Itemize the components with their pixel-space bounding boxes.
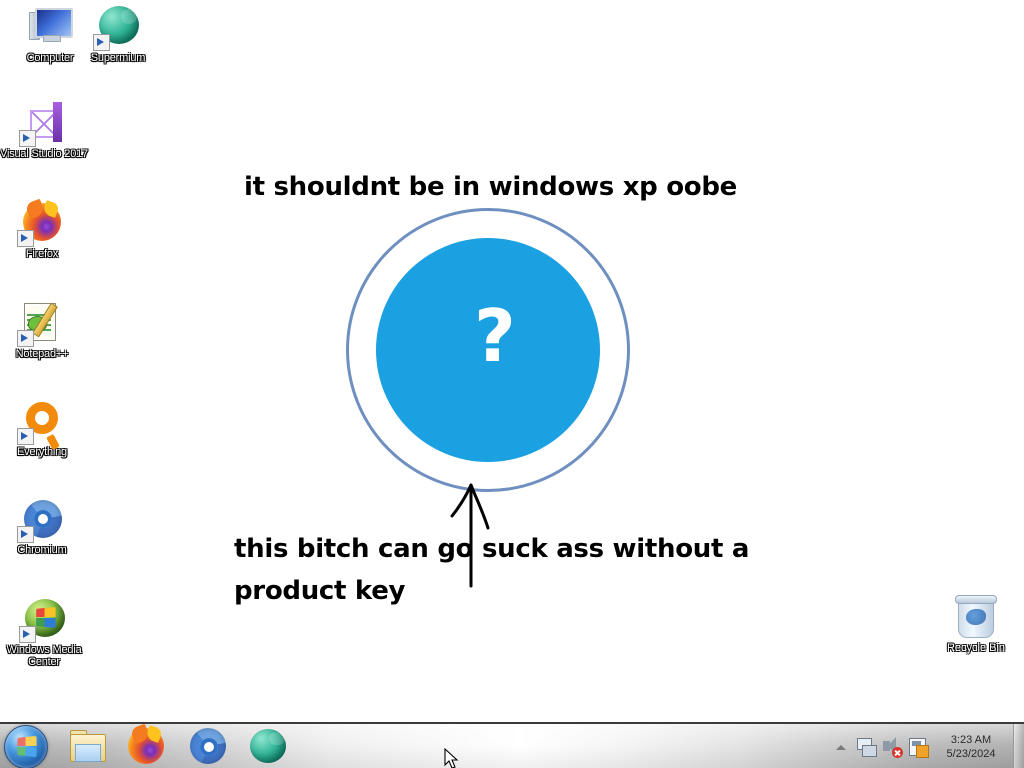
show-desktop-button[interactable] (1013, 724, 1024, 768)
desktop-icon-label: Supermium (72, 52, 164, 64)
desktop-icon-firefox[interactable]: Firefox (0, 200, 88, 260)
shortcut-overlay-icon (19, 626, 36, 643)
chromium-icon (19, 496, 65, 542)
firefox-icon (19, 200, 65, 246)
desktop-icon-recycle-bin[interactable]: Recycle Bin (928, 598, 1024, 654)
annotation-bottom-text: this bitch can go suck ass without a pro… (234, 528, 774, 612)
shortcut-overlay-icon (19, 130, 36, 147)
clock-time: 3:23 AM (937, 733, 1005, 747)
desktop-icon-everything[interactable]: Everything (0, 398, 88, 458)
taskbar-item-chromium[interactable] (190, 728, 228, 766)
oobe-question-circle-graphic: ? (346, 208, 634, 496)
desktop[interactable]: Computer Supermium Visual Studio 2017 Fi… (0, 0, 1024, 768)
desktop-icon-visual-studio-2017[interactable]: Visual Studio 2017 (0, 100, 92, 160)
clock-date: 5/23/2024 (937, 747, 1005, 761)
chromium-icon (190, 728, 226, 764)
desktop-icon-label: Windows Media Center (0, 644, 94, 668)
desktop-icon-label: Recycle Bin (928, 642, 1024, 654)
action-center-flag-icon[interactable] (907, 734, 929, 760)
shortcut-overlay-icon (17, 526, 34, 543)
supermium-orb-icon (250, 729, 286, 763)
taskbar-item-windows-explorer[interactable] (68, 728, 106, 766)
taskbar-item-supermium[interactable] (250, 728, 288, 766)
notepad-plus-plus-icon (19, 300, 65, 346)
everything-icon (19, 398, 65, 444)
desktop-icon-label: Visual Studio 2017 (0, 148, 92, 160)
recycle-bin-icon (958, 598, 994, 638)
computer-monitor-icon (27, 4, 73, 50)
system-tray[interactable]: 3:23 AM 5/23/2024 (833, 724, 1024, 768)
start-button[interactable] (4, 725, 48, 768)
desktop-icon-chromium[interactable]: Chromium (0, 496, 88, 556)
desktop-icon-label: Firefox (0, 248, 88, 260)
firefox-icon (128, 728, 164, 764)
desktop-icon-windows-media-center[interactable]: Windows Media Center (0, 596, 94, 668)
desktop-icon-label: Everything (0, 446, 88, 458)
windows-start-orb-icon (17, 736, 36, 757)
shortcut-overlay-icon (17, 230, 34, 247)
desktop-icon-supermium[interactable]: Supermium (72, 4, 164, 64)
annotation-top-text: it shouldnt be in windows xp oobe (244, 172, 737, 202)
shortcut-overlay-icon (17, 428, 34, 445)
windows-media-center-icon (21, 596, 67, 642)
chevron-up-icon[interactable] (833, 734, 849, 760)
taskbar-clock[interactable]: 3:23 AM 5/23/2024 (931, 733, 1013, 761)
desktop-icon-notepad-plus-plus[interactable]: Notepad++ (0, 300, 88, 360)
shortcut-overlay-icon (17, 330, 34, 347)
mouse-pointer-icon (444, 748, 460, 768)
network-icon[interactable] (855, 734, 877, 760)
supermium-orb-icon (95, 4, 141, 50)
visual-studio-icon (21, 100, 67, 146)
question-mark-glyph: ? (474, 300, 516, 372)
shortcut-overlay-icon (93, 34, 110, 51)
speaker-muted-icon[interactable] (881, 734, 903, 760)
desktop-icon-label: Chromium (0, 544, 88, 556)
taskbar[interactable]: 3:23 AM 5/23/2024 (0, 722, 1024, 768)
taskbar-item-firefox[interactable] (128, 728, 166, 766)
desktop-icon-label: Notepad++ (0, 348, 88, 360)
